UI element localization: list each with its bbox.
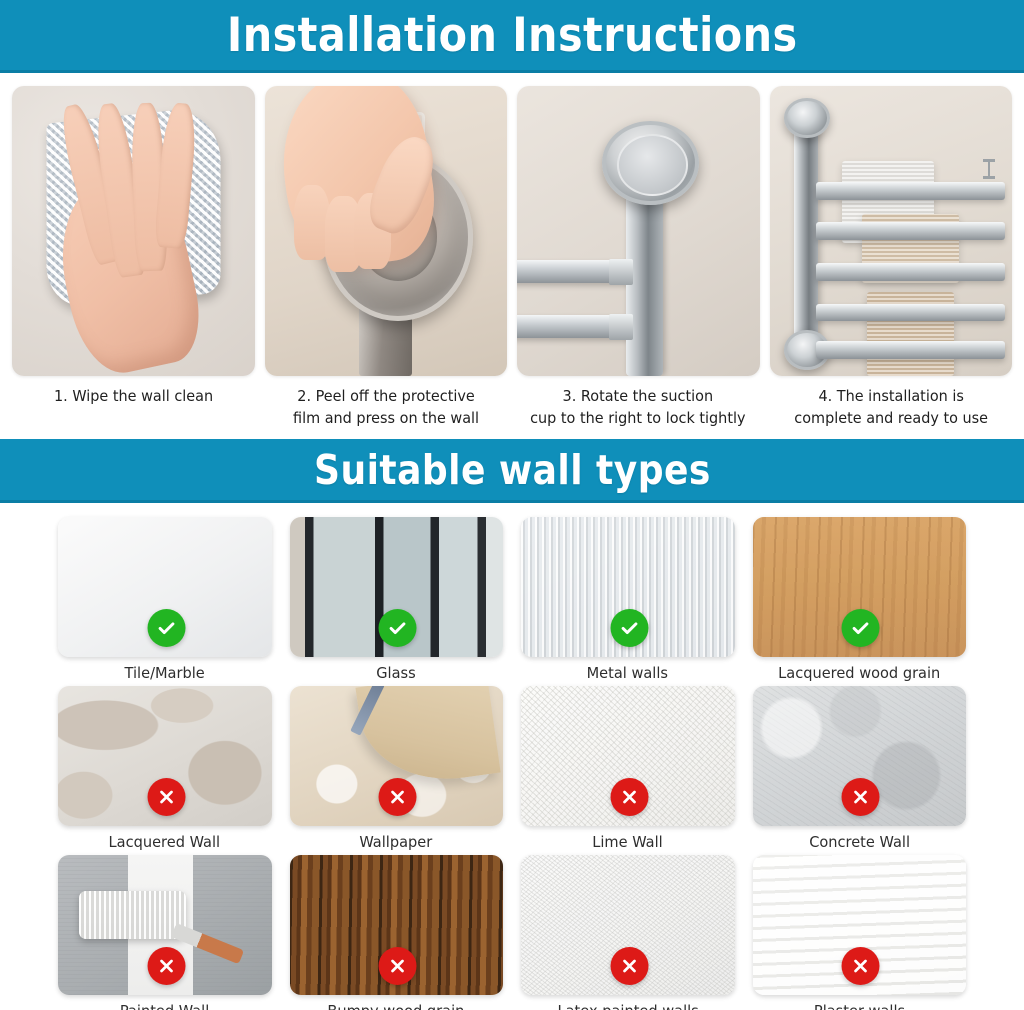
wall-type-wallpaper: Wallpaper — [290, 686, 504, 851]
wall-label: Latex painted walls — [557, 1002, 698, 1010]
wall-label: Concrete Wall — [809, 833, 910, 851]
wall-swatch-glass — [290, 517, 504, 657]
step-4-caption-line-2: complete and ready to use — [794, 407, 988, 429]
suction-cup-disc — [602, 121, 699, 205]
paint-roller — [79, 891, 186, 939]
step-4: 4. The installation is complete and read… — [770, 86, 1013, 429]
step-2: 2. Peel off the protective film and pres… — [265, 86, 508, 429]
cross-icon — [610, 947, 648, 985]
wall-swatch-wallpaper — [290, 686, 504, 826]
step-3-photo-rotate-lock — [517, 86, 760, 376]
towel-bar — [816, 222, 1005, 240]
arm-joint — [609, 259, 633, 285]
installation-title: Installation Instructions — [227, 8, 798, 63]
wall-label: Glass — [377, 664, 416, 682]
step-3-caption-line-2: cup to the right to lock tightly — [531, 407, 746, 429]
step-1: 1. Wipe the wall clean — [12, 86, 255, 429]
wall-type-metal-walls: Metal walls — [521, 517, 735, 682]
step-3-caption-line-1: 3. Rotate the suction — [531, 385, 746, 407]
wall-label: Metal walls — [587, 664, 668, 682]
step-4-caption-line-1: 4. The installation is — [794, 385, 988, 407]
wall-swatch-concrete-wall — [753, 686, 967, 826]
cross-icon — [842, 947, 880, 985]
check-icon — [147, 609, 185, 647]
installation-steps-row: 1. Wipe the wall clean 2. Peel off the p… — [0, 73, 1024, 429]
towel-bar — [816, 182, 1005, 200]
wall-swatch-lacquered-wood-grain — [753, 517, 967, 657]
infographic-page: Installation Instructions 1. Wipe the wa… — [0, 0, 1024, 1010]
wall-type-bumpy-wood-grain: Bumpy wood grain — [290, 855, 504, 1010]
wall-swatch-bumpy-wood-grain — [290, 855, 504, 995]
wall-types-title: Suitable wall types — [314, 446, 711, 494]
wall-type-tile-marble: Tile/Marble — [58, 517, 272, 682]
cross-icon — [379, 778, 417, 816]
wall-swatch-tile-marble — [58, 517, 272, 657]
wall-label: Painted Wall — [120, 1002, 209, 1010]
wall-types-grid: Tile/Marble Glass Metal walls — [0, 503, 1024, 1010]
wall-type-lacquered-wall: Lacquered Wall — [58, 686, 272, 851]
step-1-photo-wipe-wall — [12, 86, 255, 376]
suction-mount-top — [784, 98, 830, 139]
wall-swatch-latex-painted-walls — [521, 855, 735, 995]
wall-label: Bumpy wood grain — [328, 1002, 465, 1010]
wall-type-concrete-wall: Concrete Wall — [753, 686, 967, 851]
wall-type-lime-wall: Lime Wall — [521, 686, 735, 851]
step-3-caption: 3. Rotate the suction cup to the right t… — [527, 385, 750, 429]
towel-bar — [816, 304, 1005, 322]
check-icon — [610, 609, 648, 647]
wall-type-painted-wall: Painted Wall — [58, 855, 272, 1010]
cross-icon — [610, 778, 648, 816]
wall-type-lacquered-wood-grain: Lacquered wood grain — [753, 517, 967, 682]
wall-hook-icon — [983, 159, 995, 179]
wall-swatch-metal-walls — [521, 517, 735, 657]
check-icon — [842, 609, 880, 647]
banner-suitable-wall-types: Suitable wall types — [0, 439, 1024, 503]
step-2-photo-peel-film — [265, 86, 508, 376]
cross-icon — [842, 778, 880, 816]
wall-type-plaster-walls: Plaster walls — [753, 855, 967, 1010]
arm-joint — [609, 314, 633, 340]
cross-icon — [147, 947, 185, 985]
cross-icon — [379, 947, 417, 985]
step-2-caption-line-2: film and press on the wall — [293, 407, 479, 429]
wall-type-glass: Glass — [290, 517, 504, 682]
step-2-caption: 2. Peel off the protective film and pres… — [289, 385, 482, 429]
step-3: 3. Rotate the suction cup to the right t… — [517, 86, 760, 429]
wall-swatch-painted-wall — [58, 855, 272, 995]
wall-label: Wallpaper — [360, 833, 433, 851]
wall-type-latex-painted-walls: Latex painted walls — [521, 855, 735, 1010]
wall-label: Tile/Marble — [125, 664, 205, 682]
rack-vertical-rail — [794, 121, 818, 353]
towel-bar — [816, 341, 1005, 359]
vertical-post — [626, 196, 662, 376]
wall-swatch-lacquered-wall — [58, 686, 272, 826]
wall-swatch-plaster-walls — [753, 855, 967, 995]
banner-installation-instructions: Installation Instructions — [0, 0, 1024, 73]
wall-label: Lacquered Wall — [109, 833, 221, 851]
wall-label: Plaster walls — [814, 1002, 905, 1010]
step-2-caption-line-1: 2. Peel off the protective — [293, 385, 479, 407]
cross-icon — [147, 778, 185, 816]
wall-swatch-lime-wall — [521, 686, 735, 826]
step-1-caption: 1. Wipe the wall clean — [50, 385, 217, 407]
step-4-caption: 4. The installation is complete and read… — [790, 385, 991, 429]
step-4-photo-installed-rack — [770, 86, 1013, 376]
towel-bar — [816, 263, 1005, 281]
step-1-caption-line-1: 1. Wipe the wall clean — [54, 385, 213, 407]
check-icon — [379, 609, 417, 647]
wall-label: Lacquered wood grain — [778, 664, 940, 682]
wall-label: Lime Wall — [593, 833, 663, 851]
